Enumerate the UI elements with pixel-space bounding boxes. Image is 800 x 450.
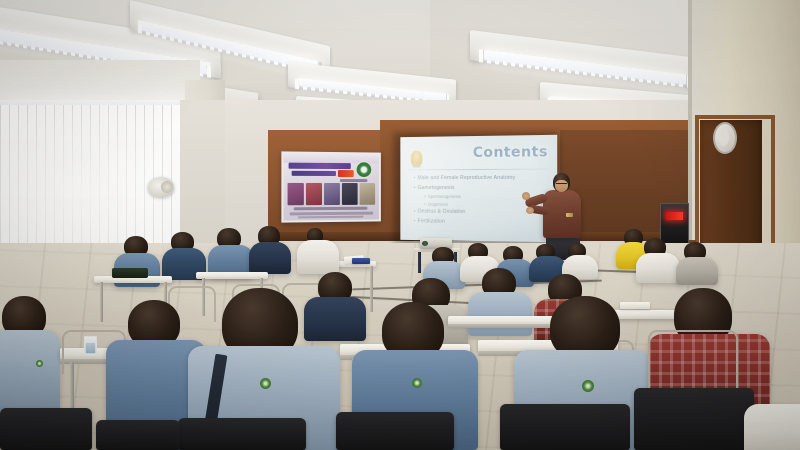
presenter-wristwatch: [566, 213, 573, 217]
slide-bullet-text: Gametogenesis: [418, 185, 455, 191]
slide-bullet-text: Oogenesis: [428, 202, 448, 207]
attendee-torso: [297, 240, 339, 274]
banner-footer-line: [298, 216, 364, 219]
uniform-emblem: [412, 378, 422, 388]
projection-screen: Contents •Male and Female Reproductive A…: [400, 135, 557, 242]
amplifier-display: [666, 212, 683, 220]
banner-highlight-badge: [338, 170, 354, 177]
bag: [112, 268, 148, 278]
photo-scene: Contents •Male and Female Reproductive A…: [0, 0, 800, 450]
uniform-emblem: [260, 378, 271, 389]
banner-date-line: [340, 179, 367, 182]
attendee-torso: [468, 292, 532, 336]
slide-bullet-text: Fertilization: [418, 218, 446, 224]
chair-back[interactable]: [0, 408, 92, 450]
slide-bullet: •Fertilization: [414, 217, 553, 228]
presenter-torso: [543, 190, 581, 238]
glasses-icon: [556, 183, 567, 187]
desk-leg: [370, 266, 373, 312]
presenter-hand: [522, 192, 530, 200]
event-banner: [281, 151, 380, 222]
slide-bullet: •Gametogenesis: [414, 184, 553, 194]
banner-title-line: [289, 163, 351, 169]
chair-back[interactable]: [634, 388, 754, 450]
attendee-torso: [636, 253, 680, 283]
slide-bullet-text: Spermatogenesis: [428, 194, 460, 199]
attendee-torso: [676, 257, 718, 285]
banner-footer-line: [294, 207, 368, 211]
amplifier[interactable]: [660, 203, 689, 245]
attendee-torso: [304, 297, 366, 341]
slide-title: Contents: [473, 144, 548, 161]
slide-bullet: •Male and Female Reproductive Anatomy: [414, 174, 553, 184]
attendee-torso: [744, 404, 800, 450]
banner-footer-line: [290, 212, 374, 215]
chair-back[interactable]: [500, 404, 630, 450]
paper-document: [620, 302, 650, 309]
wall-clock-icon: [713, 122, 737, 154]
desk: [196, 272, 268, 279]
desk-leg: [100, 282, 103, 322]
uniform-emblem: [36, 360, 43, 367]
projector-lens-icon: [422, 241, 428, 246]
chair-back[interactable]: [336, 412, 454, 450]
presenter-hand: [526, 207, 534, 214]
slide-logo-icon: [411, 151, 422, 167]
attendee-torso: [0, 330, 60, 412]
slide-divider: [408, 169, 549, 171]
chair-back[interactable]: [178, 418, 306, 450]
slide-bullet-text: Oestrus & Ovulation: [418, 209, 466, 215]
chair-back[interactable]: [96, 420, 180, 450]
uniform-emblem: [582, 380, 594, 392]
notebook: [352, 258, 370, 264]
wall-fan-icon: [148, 177, 174, 197]
banner-photo-strip: [288, 183, 376, 205]
attendee-torso: [249, 242, 291, 274]
slide-bullet-text: Male and Female Reproductive Anatomy: [418, 175, 516, 181]
chair[interactable]: [648, 330, 738, 390]
desk-edge: [448, 324, 558, 328]
banner-seal-icon: [356, 161, 373, 178]
banner-subtitle-line: [292, 171, 336, 176]
projector-table-leg: [418, 251, 421, 273]
